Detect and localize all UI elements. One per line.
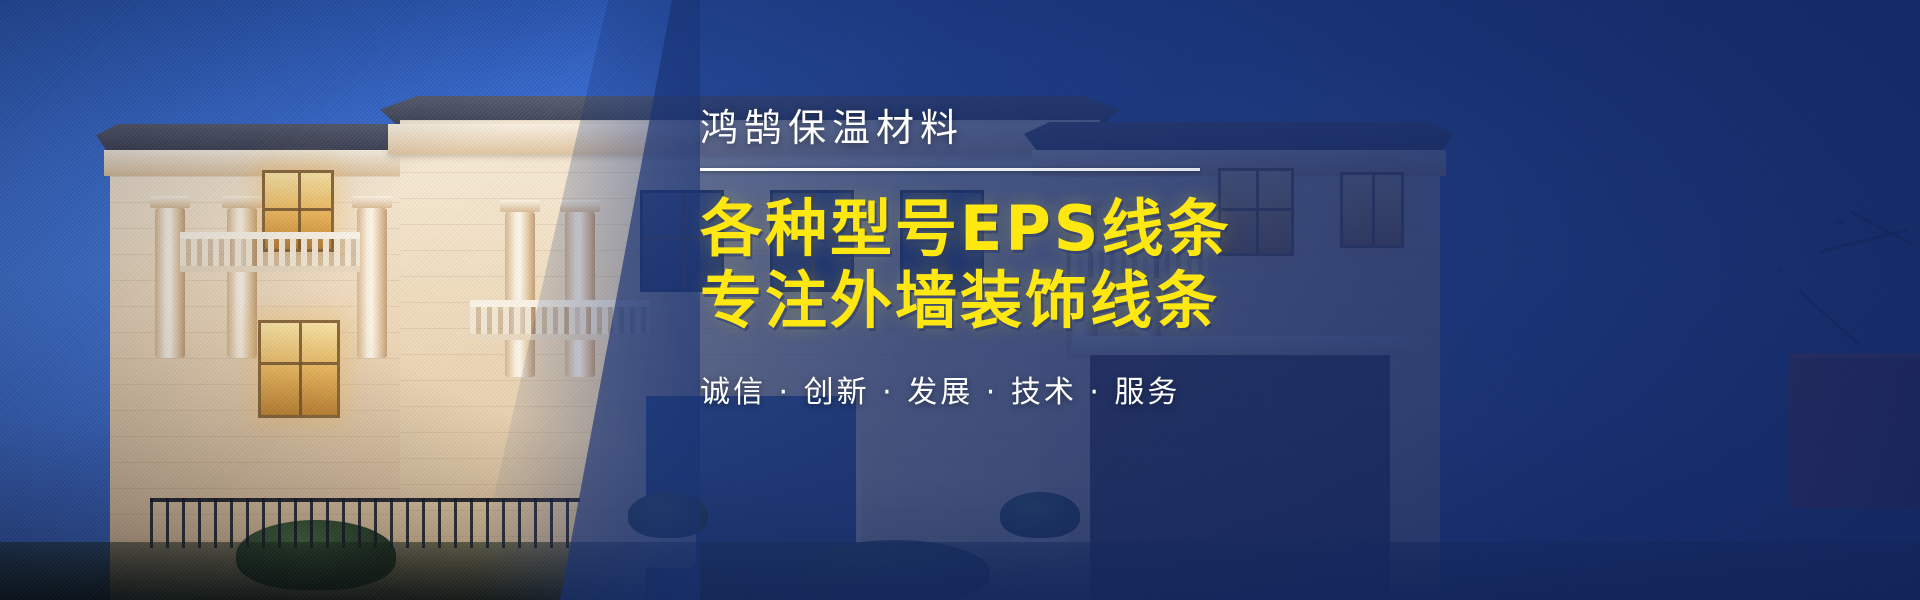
column (357, 208, 387, 358)
tree-branch (1700, 190, 1900, 350)
column (155, 208, 185, 358)
column-capital (352, 196, 392, 208)
column-capital (150, 196, 190, 208)
column-capital (500, 200, 540, 212)
headline-line-1: 各种型号EPS线条 (700, 193, 1600, 265)
shrub (1000, 492, 1080, 538)
headline-line-2: 专注外墙装饰线条 (700, 265, 1600, 337)
hedge-foreground (0, 542, 1920, 600)
balustrade (470, 300, 650, 340)
balustrade (180, 232, 360, 272)
hero-banner: 鸿鹄保温材料 各种型号EPS线条 专注外墙装饰线条 诚信 · 创新 · 发展 ·… (0, 0, 1920, 600)
iron-railing (150, 498, 580, 548)
brand-name: 鸿鹄保温材料 (700, 108, 1600, 150)
window-lit (258, 320, 340, 418)
column-capital (222, 196, 262, 208)
shrub (628, 492, 708, 538)
column (505, 212, 535, 377)
column (565, 212, 595, 377)
banner-copy: 鸿鹄保温材料 各种型号EPS线条 专注外墙装饰线条 诚信 · 创新 · 发展 ·… (700, 108, 1600, 411)
red-container (1790, 353, 1920, 508)
tagline: 诚信 · 创新 · 发展 · 技术 · 服务 (700, 367, 1600, 411)
column-capital (560, 200, 600, 212)
divider-line (700, 168, 1200, 171)
column (227, 208, 257, 358)
